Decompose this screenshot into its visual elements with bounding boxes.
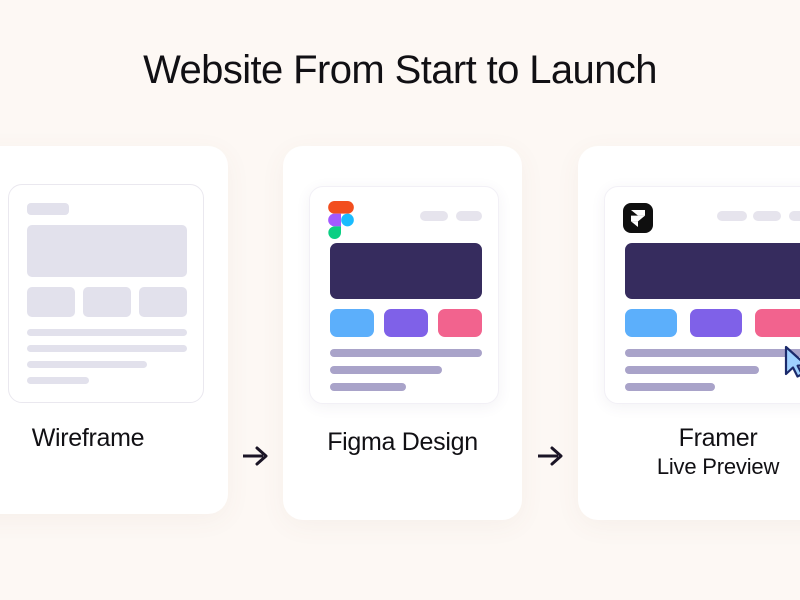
arrow-right-icon [532, 438, 568, 474]
wireframe-text-line [27, 361, 147, 368]
color-chip-blue [625, 309, 677, 337]
wireframe-mockup [8, 184, 204, 403]
wireframe-hero-block [27, 225, 187, 277]
step-label-wireframe: Wireframe [0, 424, 228, 453]
step-card-figma-design[interactable]: Figma Design [283, 146, 522, 520]
nav-pill [456, 211, 482, 221]
color-chip-purple [384, 309, 428, 337]
nav-pill [717, 211, 747, 221]
figma-logo [328, 201, 354, 239]
nav-pill [789, 211, 800, 221]
color-chip-pink [755, 309, 800, 337]
wireframe-logo-placeholder [27, 203, 69, 215]
hero-block [330, 243, 482, 299]
nav-pill [753, 211, 781, 221]
step-card-framer-live-preview[interactable]: Framer Live Preview [578, 146, 800, 520]
text-line [625, 349, 800, 357]
color-chip-blue [330, 309, 374, 337]
step-label-figma-design: Figma Design [283, 428, 522, 457]
wireframe-text-line [27, 377, 89, 384]
text-line [330, 366, 442, 374]
page-title: Website From Start to Launch [0, 48, 800, 93]
wireframe-card-box [139, 287, 187, 317]
arrow-right-icon [237, 438, 273, 474]
hero-block [625, 243, 800, 299]
text-line [625, 366, 759, 374]
text-line [330, 349, 482, 357]
figma-design-mockup [309, 186, 499, 404]
step-card-wireframe[interactable]: Wireframe [0, 146, 228, 514]
wireframe-text-line [27, 329, 187, 336]
color-chip-pink [438, 309, 482, 337]
step-label-framer: Framer [578, 424, 800, 453]
wireframe-card-box [83, 287, 131, 317]
wireframe-card-box [27, 287, 75, 317]
wireframe-text-line [27, 345, 187, 352]
color-chip-purple [690, 309, 742, 337]
framer-logo [623, 203, 653, 233]
step-sublabel-live-preview: Live Preview [578, 454, 800, 480]
text-line [625, 383, 715, 391]
steps-stage: Wireframe [0, 146, 800, 520]
mouse-cursor-icon [783, 345, 800, 379]
text-line [330, 383, 406, 391]
framer-preview-mockup [604, 186, 800, 404]
nav-pill [420, 211, 448, 221]
